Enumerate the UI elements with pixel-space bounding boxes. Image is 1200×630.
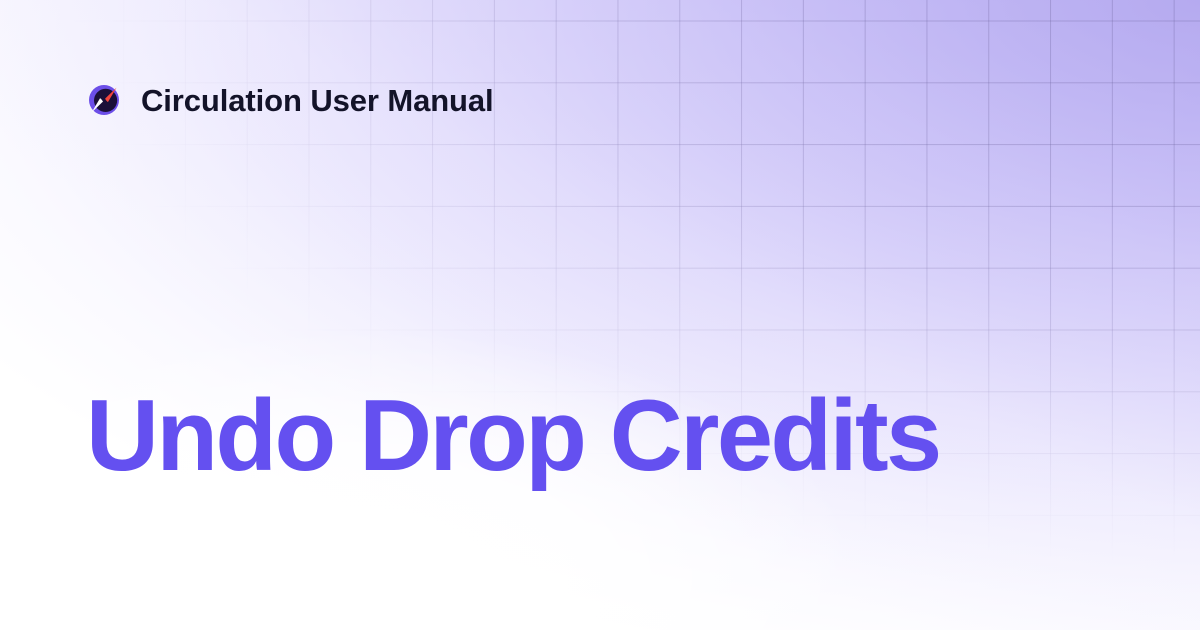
card-content: Circulation User Manual Undo Drop Credit… — [0, 0, 1200, 630]
compass-icon — [86, 82, 122, 118]
brand-lockup: Circulation User Manual — [86, 82, 494, 118]
page-title: Undo Drop Credits — [86, 383, 1114, 490]
brand-name: Circulation User Manual — [141, 85, 494, 116]
og-card: Circulation User Manual Undo Drop Credit… — [0, 0, 1200, 630]
